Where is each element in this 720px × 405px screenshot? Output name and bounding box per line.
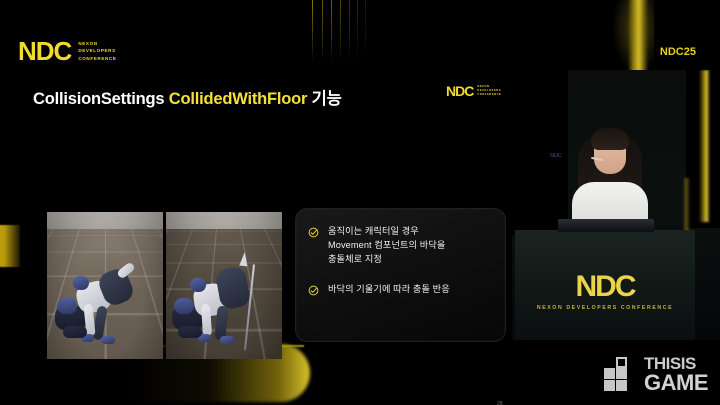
- ndc-tagline-line: NEXON: [78, 40, 116, 47]
- slide-title-accent: CollidedWithFloor: [169, 90, 308, 108]
- slide-title: CollisionSettings CollidedWithFloor 기능: [33, 85, 342, 109]
- edition-badge: NDC25: [660, 46, 696, 58]
- slide-title-suffix: 기능: [307, 90, 341, 108]
- ndc-tagline-line: CONFERENCE: [477, 93, 501, 97]
- ndc-tagline: NEXON DEVELOPERS CONFERENCE: [78, 40, 116, 61]
- decor-stripe: [357, 0, 358, 62]
- slide-ndc-logo: NDC NEXON DEVELOPERS CONFERENCE: [446, 84, 502, 98]
- slide-page-number: 28: [497, 401, 503, 405]
- thisisgame-blocks-icon: [604, 357, 638, 391]
- stage-light-stripe: [699, 70, 710, 222]
- speaker-shirt-logo: NDC: [550, 153, 562, 159]
- brand-logo: NDC NEXON DEVELOPERS CONFERENCE: [18, 38, 117, 64]
- check-circle-icon: [308, 285, 319, 296]
- ndc-wordmark: NDC: [446, 84, 473, 98]
- bullet-item: 움직이는 캐릭터일 경우 Movement 컴포넌트의 바닥을 충돌체로 지정: [308, 225, 491, 267]
- podium: NDC NEXON DEVELOPERS CONFERENCE: [515, 230, 695, 340]
- decor-stripe: [322, 0, 323, 62]
- render-vignette: [47, 212, 163, 359]
- stage-light-stripe: [683, 178, 690, 234]
- presentation-slide: CollisionSettings CollidedWithFloor 기능 N…: [0, 70, 512, 340]
- ndc-tagline-line: CONFERENCE: [78, 55, 116, 62]
- decor-stripe: [365, 0, 366, 62]
- speaker-figure: [574, 122, 646, 234]
- ndc-wordmark: NDC: [515, 272, 695, 302]
- bullet-item: 바닥의 기울기에 따라 충돌 반응: [308, 283, 491, 297]
- laptop: [558, 219, 654, 232]
- speaker-fringe: [591, 128, 629, 150]
- slide-media-group: [47, 212, 283, 359]
- thisisgame-watermark: THISIS GAME: [604, 356, 708, 393]
- podium-tagline: NEXON DEVELOPERS CONFERENCE: [515, 305, 695, 311]
- watermark-line-2: GAME: [644, 372, 708, 393]
- bullet-text: 움직이는 캐릭터일 경우 Movement 컴포넌트의 바닥을 충돌체로 지정: [328, 225, 445, 267]
- character-render-left: [47, 212, 163, 359]
- bullet-text: 바닥의 기울기에 따라 충돌 반응: [328, 283, 450, 297]
- bullet-card: 움직이는 캐릭터일 경우 Movement 컴포넌트의 바닥을 충돌체로 지정 …: [295, 208, 506, 342]
- podium-logo: NDC NEXON DEVELOPERS CONFERENCE: [515, 272, 695, 311]
- ndc-wordmark: NDC: [18, 38, 71, 64]
- decor-band-right: [628, 0, 648, 74]
- speaker-video-panel[interactable]: NDC NDC NEXON DEVELOPERS CONFERENCE: [512, 70, 720, 340]
- decor-stripe: [349, 0, 350, 62]
- check-circle-icon: [308, 227, 319, 238]
- ndc-tagline: NEXON DEVELOPERS CONFERENCE: [477, 85, 501, 97]
- ndc-tagline-line: DEVELOPERS: [78, 47, 116, 54]
- decor-stripe: [340, 0, 341, 62]
- decor-stripe: [331, 0, 332, 62]
- thisisgame-wordmark: THISIS GAME: [644, 356, 708, 393]
- render-vignette: [166, 212, 282, 359]
- character-render-right: [166, 212, 282, 359]
- slide-title-plain: CollisionSettings: [33, 90, 169, 108]
- decor-stripe: [312, 0, 313, 62]
- screen-background: NDC NEXON DEVELOPERS CONFERENCE NDC25 Co…: [0, 0, 720, 405]
